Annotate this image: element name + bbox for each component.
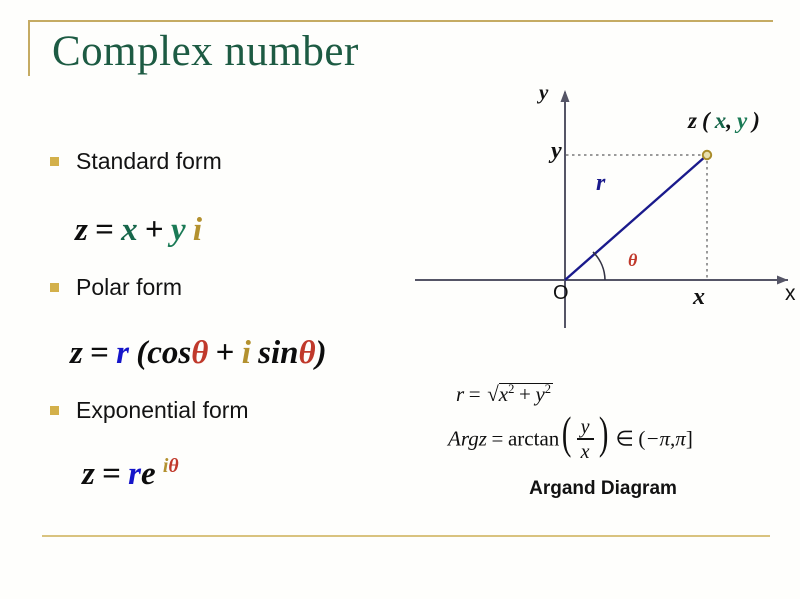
point-label-token-comma: , <box>726 108 732 133</box>
fraction-denominator-x: x <box>577 440 594 462</box>
formula-token-z: z <box>75 212 88 248</box>
angle-arc <box>593 252 605 280</box>
modulus-token-r: r <box>456 382 464 406</box>
argument-token-interval-close: ] <box>686 426 693 450</box>
y-axis-arrowhead <box>561 90 570 102</box>
square-root-group: √x2+y2 <box>485 382 551 407</box>
formula-token-r: r <box>128 456 141 492</box>
formula-polar-form: z=r(cosθ+isinθ) <box>70 335 327 372</box>
radical-sign-icon: √ <box>487 382 499 406</box>
argument-token-z: z <box>479 426 487 450</box>
x-value-label: x <box>693 284 705 311</box>
formula-standard-form: z=x+yi <box>75 212 202 249</box>
top-gold-rule <box>28 20 773 22</box>
bullet-label: Standard form <box>76 148 222 175</box>
argand-diagram-caption: Argand Diagram <box>448 478 758 500</box>
y-axis-label: y <box>539 80 548 105</box>
origin-label: O <box>553 282 569 305</box>
formula-token-sin: sin <box>258 335 298 371</box>
point-label-token-open: ( <box>702 108 710 133</box>
x-axis-label: x <box>785 282 796 306</box>
modulus-token-y: y <box>535 382 544 406</box>
formula-token-z: z <box>70 335 83 371</box>
bullet-label: Exponential form <box>76 397 249 424</box>
argument-token-pi: π <box>675 426 686 450</box>
formula-token-equals: = <box>90 335 109 371</box>
formula-token-cos: cos <box>147 335 191 371</box>
argument-formula: Argz=arctan(yx)∈(−π,π] <box>448 418 693 463</box>
fraction-y-over-x: yx <box>577 417 594 462</box>
fraction-numerator-y: y <box>577 417 594 438</box>
argand-formula-block: r=√x2+y2 Argz=arctan(yx)∈(−π,π] <box>448 380 758 490</box>
argument-token-arctan: arctan <box>508 426 559 450</box>
formula-token-e: e <box>141 456 156 492</box>
page-title: Complex number <box>52 26 359 78</box>
square-bullet-icon <box>50 283 59 292</box>
argument-token-minus-pi: −π <box>645 426 670 450</box>
formula-token-theta: θ <box>191 335 208 371</box>
formula-token-r: r <box>116 335 129 371</box>
modulus-token-equals: = <box>469 382 481 406</box>
modulus-formula: r=√x2+y2 <box>456 382 551 407</box>
bullet-item-exponential-form: Exponential form <box>50 397 249 424</box>
formula-token-equals: = <box>102 456 121 492</box>
square-bullet-icon <box>50 406 59 415</box>
formula-token-theta-2: θ <box>299 335 316 371</box>
point-marker-z <box>703 151 711 159</box>
formula-token-plus: + <box>216 335 235 371</box>
point-label-token-z: z <box>688 108 697 133</box>
formula-token-i: i <box>242 335 251 371</box>
angle-theta-label: θ <box>628 250 637 271</box>
formula-token-z: z <box>82 456 95 492</box>
formula-token-open-paren: ( <box>136 335 147 371</box>
modulus-token-x: x <box>499 382 508 406</box>
left-gold-rule <box>28 20 30 76</box>
formula-token-equals: = <box>95 212 114 248</box>
bullet-item-polar-form: Polar form <box>50 274 182 301</box>
y-value-label: y <box>551 138 562 165</box>
radius-label: r <box>596 170 605 197</box>
bottom-gold-rule <box>42 535 770 537</box>
formula-token-plus: + <box>145 212 164 248</box>
argument-token-element-of: ∈ <box>615 426 633 450</box>
bullet-label: Polar form <box>76 274 182 301</box>
formula-token-y: y <box>171 212 186 248</box>
point-label-token-close: ) <box>752 108 760 133</box>
point-label-z-x-y: z(x,y) <box>688 108 760 134</box>
formula-token-theta-superscript: θ <box>168 455 178 477</box>
formula-token-x: x <box>121 212 138 248</box>
formula-exponential-form: z=reiθ <box>82 455 179 493</box>
formula-token-close-paren: ) <box>316 335 327 371</box>
formula-token-i: i <box>193 212 202 248</box>
slide-canvas: Complex number Standard form z=x+yi Pola… <box>0 0 800 599</box>
argument-token-equals: = <box>492 426 504 450</box>
modulus-token-plus: + <box>519 382 531 406</box>
argand-diagram: y x y x O r θ z(x,y) <box>400 70 800 330</box>
bullet-item-standard-form: Standard form <box>50 148 222 175</box>
argument-token-arg: Arg <box>448 426 479 450</box>
radical-bar <box>499 383 553 384</box>
square-bullet-icon <box>50 157 59 166</box>
point-label-token-y: y <box>737 108 747 133</box>
point-label-token-x: x <box>715 108 727 133</box>
